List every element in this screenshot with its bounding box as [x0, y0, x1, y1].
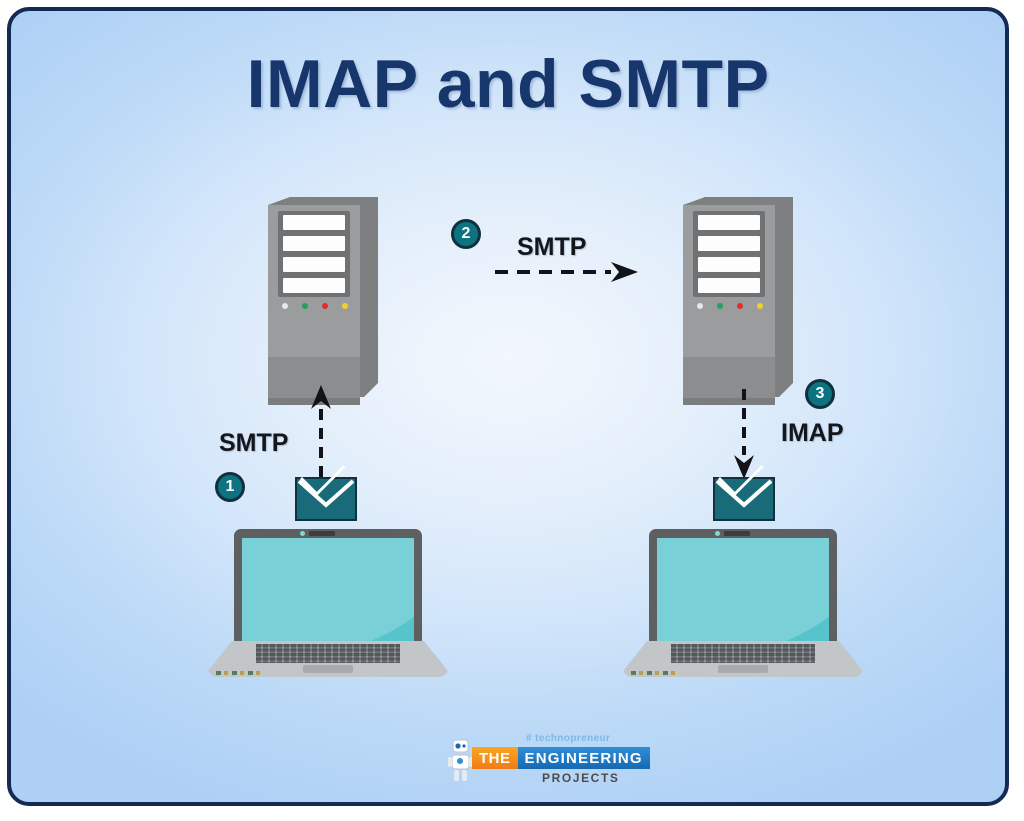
led-status-idle-icon [282, 303, 288, 309]
speaker-bar-icon [309, 531, 335, 536]
server-right-led-panel [697, 303, 763, 309]
server-right-drive-bays [693, 211, 765, 297]
laptop-left-deck [208, 641, 448, 677]
diagram-canvas: IMAP and SMTP [0, 0, 1024, 821]
drive-bay [283, 215, 345, 230]
step-3-protocol-label: IMAP [781, 419, 844, 448]
footer-brand-the: THE [472, 747, 518, 769]
led-status-warn-icon [342, 303, 348, 309]
laptop-right-screen [657, 538, 829, 641]
drive-bay [283, 236, 345, 251]
server-left-drive-bays [278, 211, 350, 297]
laptop-right [623, 529, 863, 677]
drive-bay [698, 257, 760, 272]
laptop-right-webcam [715, 531, 750, 536]
drive-bay [698, 278, 760, 293]
step-badge-2: 2 [451, 219, 481, 249]
laptop-left-keyboard [256, 644, 400, 663]
server-left-led-panel [282, 303, 348, 309]
step-1-protocol-label: SMTP [219, 429, 288, 458]
laptop-right-deck [623, 641, 863, 677]
laptop-left-screen [242, 538, 414, 641]
laptop-right-lid [649, 529, 837, 647]
led-status-error-icon [322, 303, 328, 309]
server-left [268, 197, 378, 397]
step-badge-3: 3 [805, 379, 835, 409]
footer-brand-projects: PROJECTS [542, 771, 619, 785]
laptop-left-trackpad [303, 665, 353, 673]
laptop-left [208, 529, 448, 677]
laptop-left-webcam [300, 531, 335, 536]
laptop-right-ports [631, 671, 677, 675]
envelope-sent-icon [295, 477, 357, 521]
led-status-error-icon [737, 303, 743, 309]
envelope-received-icon [713, 477, 775, 521]
laptop-right-trackpad [718, 665, 768, 673]
footer-tagline: # technopreneur [526, 733, 610, 744]
drive-bay [283, 278, 345, 293]
drive-bay [698, 236, 760, 251]
laptop-left-lid [234, 529, 422, 647]
step-badge-1: 1 [215, 472, 245, 502]
step-2-protocol-label: SMTP [517, 233, 586, 262]
page-title: IMAP and SMTP [11, 45, 1005, 123]
webcam-lens-icon [300, 531, 305, 536]
led-status-warn-icon [757, 303, 763, 309]
laptop-left-ports [216, 671, 262, 675]
led-status-ok-icon [302, 303, 308, 309]
speaker-bar-icon [724, 531, 750, 536]
drive-bay [698, 215, 760, 230]
webcam-lens-icon [715, 531, 720, 536]
server-right [683, 197, 793, 397]
arrow-smtp-server-to-server [493, 259, 643, 290]
led-status-ok-icon [717, 303, 723, 309]
footer-brand: THE ENGINEERING [472, 747, 650, 769]
led-status-idle-icon [697, 303, 703, 309]
drive-bay [283, 257, 345, 272]
envelope-flap [297, 479, 355, 519]
footer-brand-engineering: ENGINEERING [518, 747, 650, 769]
server-right-foot [683, 398, 775, 405]
diagram-frame: IMAP and SMTP [7, 7, 1009, 806]
laptop-right-keyboard [671, 644, 815, 663]
envelope-flap [715, 479, 773, 519]
footer-logo: # technopreneur THE ENGINEERING PROJECTS [448, 733, 628, 795]
robot-mascot-icon [448, 739, 474, 788]
